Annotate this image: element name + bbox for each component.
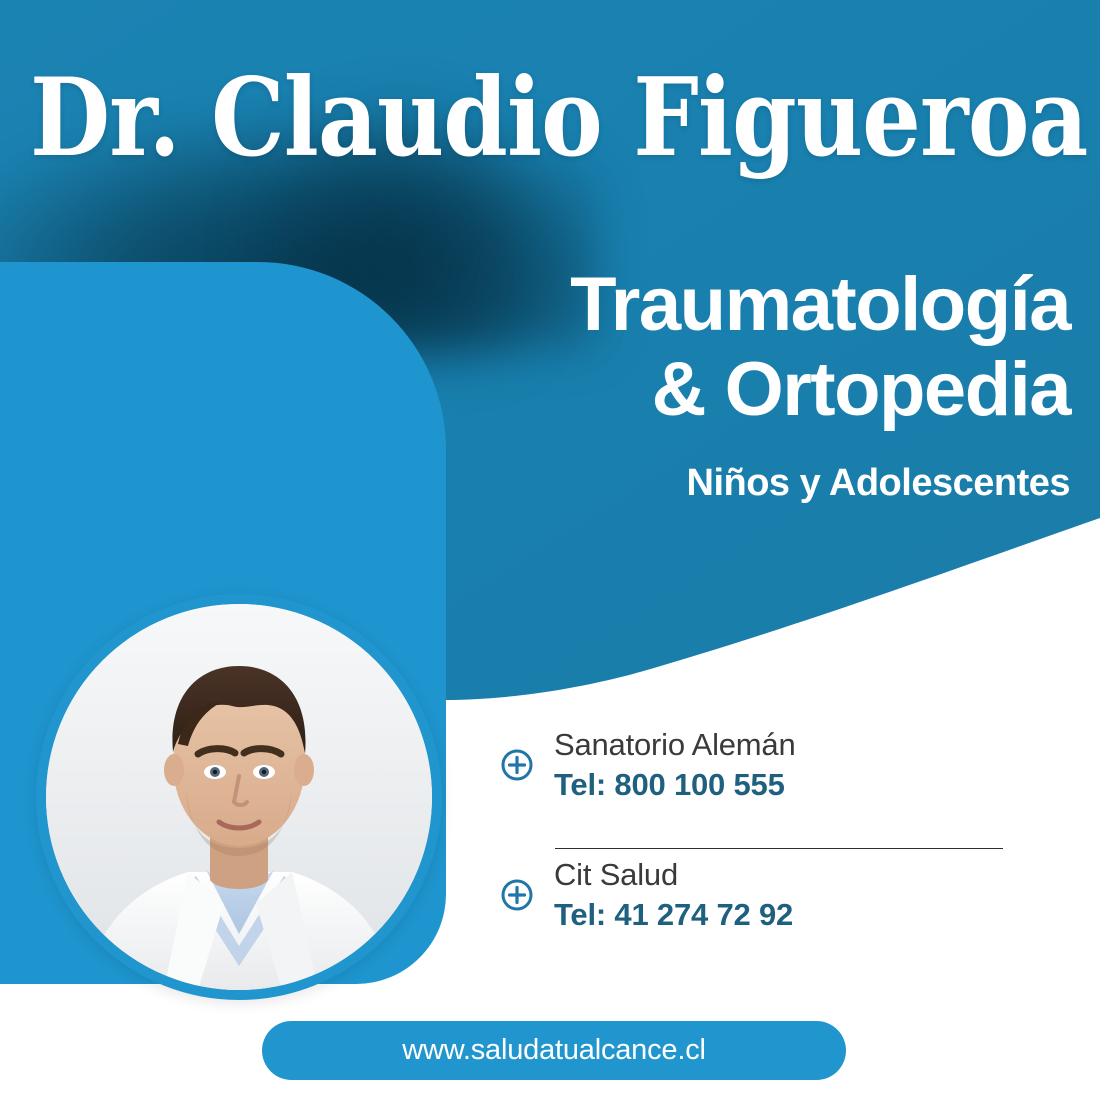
contact-divider bbox=[555, 848, 1003, 849]
contact-text: Cit Salud Tel: 41 274 72 92 bbox=[554, 857, 793, 933]
list-item[interactable]: Sanatorio Alemán Tel: 800 100 555 bbox=[500, 722, 1020, 808]
phone-number[interactable]: Tel: 800 100 555 bbox=[554, 767, 796, 804]
contact-list: Sanatorio Alemán Tel: 800 100 555 Cit Sa… bbox=[500, 722, 1020, 938]
clinic-name: Sanatorio Alemán bbox=[554, 727, 796, 764]
specialty-line-1: Traumatología bbox=[570, 262, 1070, 347]
business-card: Dr. Claudio Figueroa F. Traumatología & … bbox=[0, 0, 1100, 1100]
doctor-photo bbox=[46, 604, 432, 990]
website-url: www.saludatualcance.cl bbox=[402, 1034, 705, 1067]
clinic-name: Cit Salud bbox=[554, 857, 793, 894]
circle-plus-icon bbox=[500, 748, 534, 782]
circle-plus-icon bbox=[500, 878, 534, 912]
audience-subtitle: Niños y Adolescentes bbox=[687, 462, 1071, 505]
specialty-line-2: & Ortopedia bbox=[570, 347, 1070, 432]
list-item[interactable]: Cit Salud Tel: 41 274 72 92 bbox=[500, 852, 1020, 938]
website-button[interactable]: www.saludatualcance.cl bbox=[262, 1021, 846, 1080]
phone-number[interactable]: Tel: 41 274 72 92 bbox=[554, 897, 793, 934]
specialty-heading: Traumatología & Ortopedia bbox=[570, 262, 1070, 432]
contact-text: Sanatorio Alemán Tel: 800 100 555 bbox=[554, 727, 796, 803]
page-title: Dr. Claudio Figueroa F. bbox=[30, 64, 936, 172]
avatar bbox=[36, 594, 442, 1000]
